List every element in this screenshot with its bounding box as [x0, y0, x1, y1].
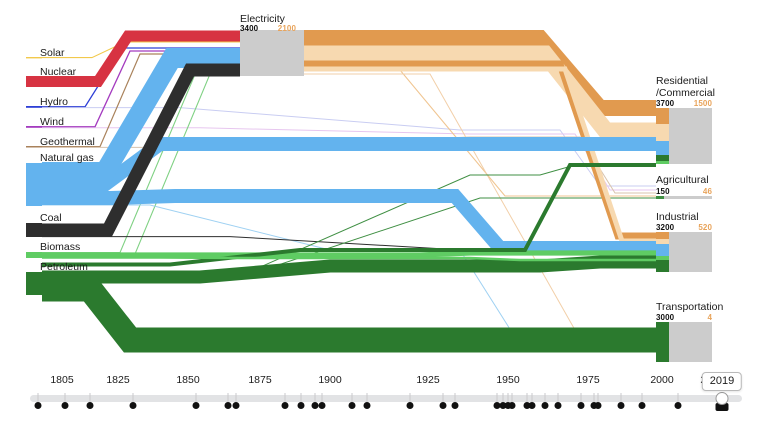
- flow-petroleum-transportation: [42, 289, 656, 340]
- timeline-event-dot[interactable]: [555, 402, 562, 409]
- timeline-event-dot[interactable]: [578, 402, 585, 409]
- node-agricultural[interactable]: Agricultural 150 46: [656, 174, 712, 199]
- source-label-petroleum: Petroleum: [40, 261, 88, 273]
- source-band-geothermal[interactable]: [26, 146, 42, 148]
- timeline-event-dot[interactable]: [225, 402, 232, 409]
- timeline-year-1875: 1875: [248, 374, 271, 386]
- timeline-event-dots: [0, 393, 768, 417]
- timeline-year-1900: 1900: [318, 374, 341, 386]
- timeline-event-dot[interactable]: [639, 402, 646, 409]
- node-ind-rect[interactable]: [669, 232, 712, 272]
- timeline-event-dot[interactable]: [233, 402, 240, 409]
- source-band-solar[interactable]: [26, 57, 42, 58]
- source-label-wind: Wind: [40, 116, 64, 128]
- node-ind-in-electricity-light: [656, 239, 669, 244]
- timeline-event-dot[interactable]: [364, 402, 371, 409]
- node-res-in-natgas-elec: [656, 124, 669, 141]
- source-band-coal[interactable]: [26, 223, 42, 237]
- timeline-year-2000: 2000: [650, 374, 673, 386]
- timeline-event-dot[interactable]: [407, 402, 414, 409]
- timeline-year-1805: 1805: [50, 374, 73, 386]
- node-electricity[interactable]: Electricity 3400 2100: [240, 13, 304, 76]
- timeline-event-dot[interactable]: [440, 402, 447, 409]
- timeline-event-dot[interactable]: [675, 402, 682, 409]
- timeline-event-dot[interactable]: [319, 402, 326, 409]
- source-label-coal: Coal: [40, 212, 62, 224]
- source-band-biomass[interactable]: [26, 252, 42, 258]
- node-electricity-value-in: 3400: [240, 24, 259, 33]
- node-ind-in-electricity: [656, 232, 669, 239]
- timeline-event-dot[interactable]: [509, 402, 516, 409]
- node-electricity-value-out: 2100: [278, 24, 297, 33]
- node-transportation[interactable]: Transportation 3000 4: [656, 301, 723, 362]
- timeline-event-dot[interactable]: [542, 402, 549, 409]
- node-trans-value-2: 4: [707, 313, 712, 322]
- timeline-event-dot[interactable]: [62, 402, 69, 409]
- timeline-event-dot[interactable]: [529, 402, 536, 409]
- node-ind-value-2: 520: [698, 223, 712, 232]
- node-res-in-electricity: [656, 108, 669, 124]
- timeline-selected-year: 2019: [702, 372, 742, 391]
- source-label-natural-gas: Natural gas: [40, 152, 94, 164]
- node-res-in-natgas: [656, 141, 669, 155]
- node-residential-commercial[interactable]: Residential /Commercial 3700 1500: [656, 75, 715, 164]
- node-trans-rect[interactable]: [669, 322, 712, 362]
- timeline-year-1850: 1850: [176, 374, 199, 386]
- node-ind-label: Industrial: [656, 211, 699, 223]
- source-band-wind[interactable]: [26, 126, 42, 128]
- timeline-event-dot[interactable]: [349, 402, 356, 409]
- node-res-value-2: 1500: [694, 99, 713, 108]
- source-label-biomass: Biomass: [40, 241, 80, 253]
- flow-natgas-industrial: [42, 196, 656, 248]
- timeline-event-dot[interactable]: [87, 402, 94, 409]
- node-trans-value: 3000: [656, 313, 675, 322]
- source-band-petroleum[interactable]: [26, 272, 42, 295]
- timeline-event-dot[interactable]: [298, 402, 305, 409]
- node-res-in-petroleum: [656, 155, 669, 161]
- node-agri-in-petroleum: [656, 196, 664, 199]
- timeline-event-dot[interactable]: [130, 402, 137, 409]
- node-trans-in-petroleum: [656, 322, 669, 362]
- timeline-year-1975: 1975: [576, 374, 599, 386]
- timeline-year-labels: 1805182518501875190019251950197520002025: [0, 374, 768, 390]
- node-agri-value-2: 46: [703, 187, 713, 196]
- source-band-hydro[interactable]: [26, 106, 42, 108]
- timeline-handle[interactable]: [716, 392, 729, 405]
- node-agri-value: 150: [656, 187, 670, 196]
- node-res-label-line1: Residential: [656, 75, 708, 87]
- node-res-rect[interactable]: [669, 108, 712, 164]
- timeline-year-1825: 1825: [106, 374, 129, 386]
- node-industrial[interactable]: Industrial 3200 520: [656, 211, 712, 272]
- flow-biomass-main: [42, 253, 656, 255]
- node-res-label-line2: /Commercial: [656, 87, 715, 99]
- source-band-nuclear[interactable]: [26, 76, 42, 87]
- node-ind-value: 3200: [656, 223, 675, 232]
- timeline-event-dot[interactable]: [282, 402, 289, 409]
- node-agri-rect[interactable]: [656, 196, 712, 199]
- source-label-nuclear: Nuclear: [40, 66, 77, 78]
- timeline-event-dot[interactable]: [595, 402, 602, 409]
- source-band-natural-gas[interactable]: [26, 163, 42, 206]
- timeline-event-dot[interactable]: [312, 402, 319, 409]
- sankey-svg: Electricity 3400 2100 Solar Nuclear Hydr…: [0, 0, 768, 370]
- timeline-event-dot[interactable]: [452, 402, 459, 409]
- node-ind-in-biomass: [656, 256, 669, 260]
- source-label-hydro: Hydro: [40, 96, 68, 108]
- node-res-in-biomass: [656, 161, 669, 164]
- node-agri-label: Agricultural: [656, 174, 709, 186]
- source-label-geothermal: Geothermal: [40, 136, 95, 148]
- timeline-event-dot[interactable]: [193, 402, 200, 409]
- timeline-event-dot[interactable]: [35, 402, 42, 409]
- timeline-slider[interactable]: 1805182518501875190019251950197520002025…: [0, 370, 768, 431]
- node-electricity-rect[interactable]: [240, 30, 304, 76]
- source-label-solar: Solar: [40, 47, 65, 59]
- sankey-diagram: Electricity 3400 2100 Solar Nuclear Hydr…: [0, 0, 768, 370]
- timeline-event-dot[interactable]: [618, 402, 625, 409]
- timeline-year-1925: 1925: [416, 374, 439, 386]
- node-trans-label: Transportation: [656, 301, 723, 313]
- node-ind-in-petroleum: [656, 260, 669, 272]
- node-ind-in-natgas: [656, 244, 669, 256]
- timeline-year-1950: 1950: [496, 374, 519, 386]
- node-res-value: 3700: [656, 99, 675, 108]
